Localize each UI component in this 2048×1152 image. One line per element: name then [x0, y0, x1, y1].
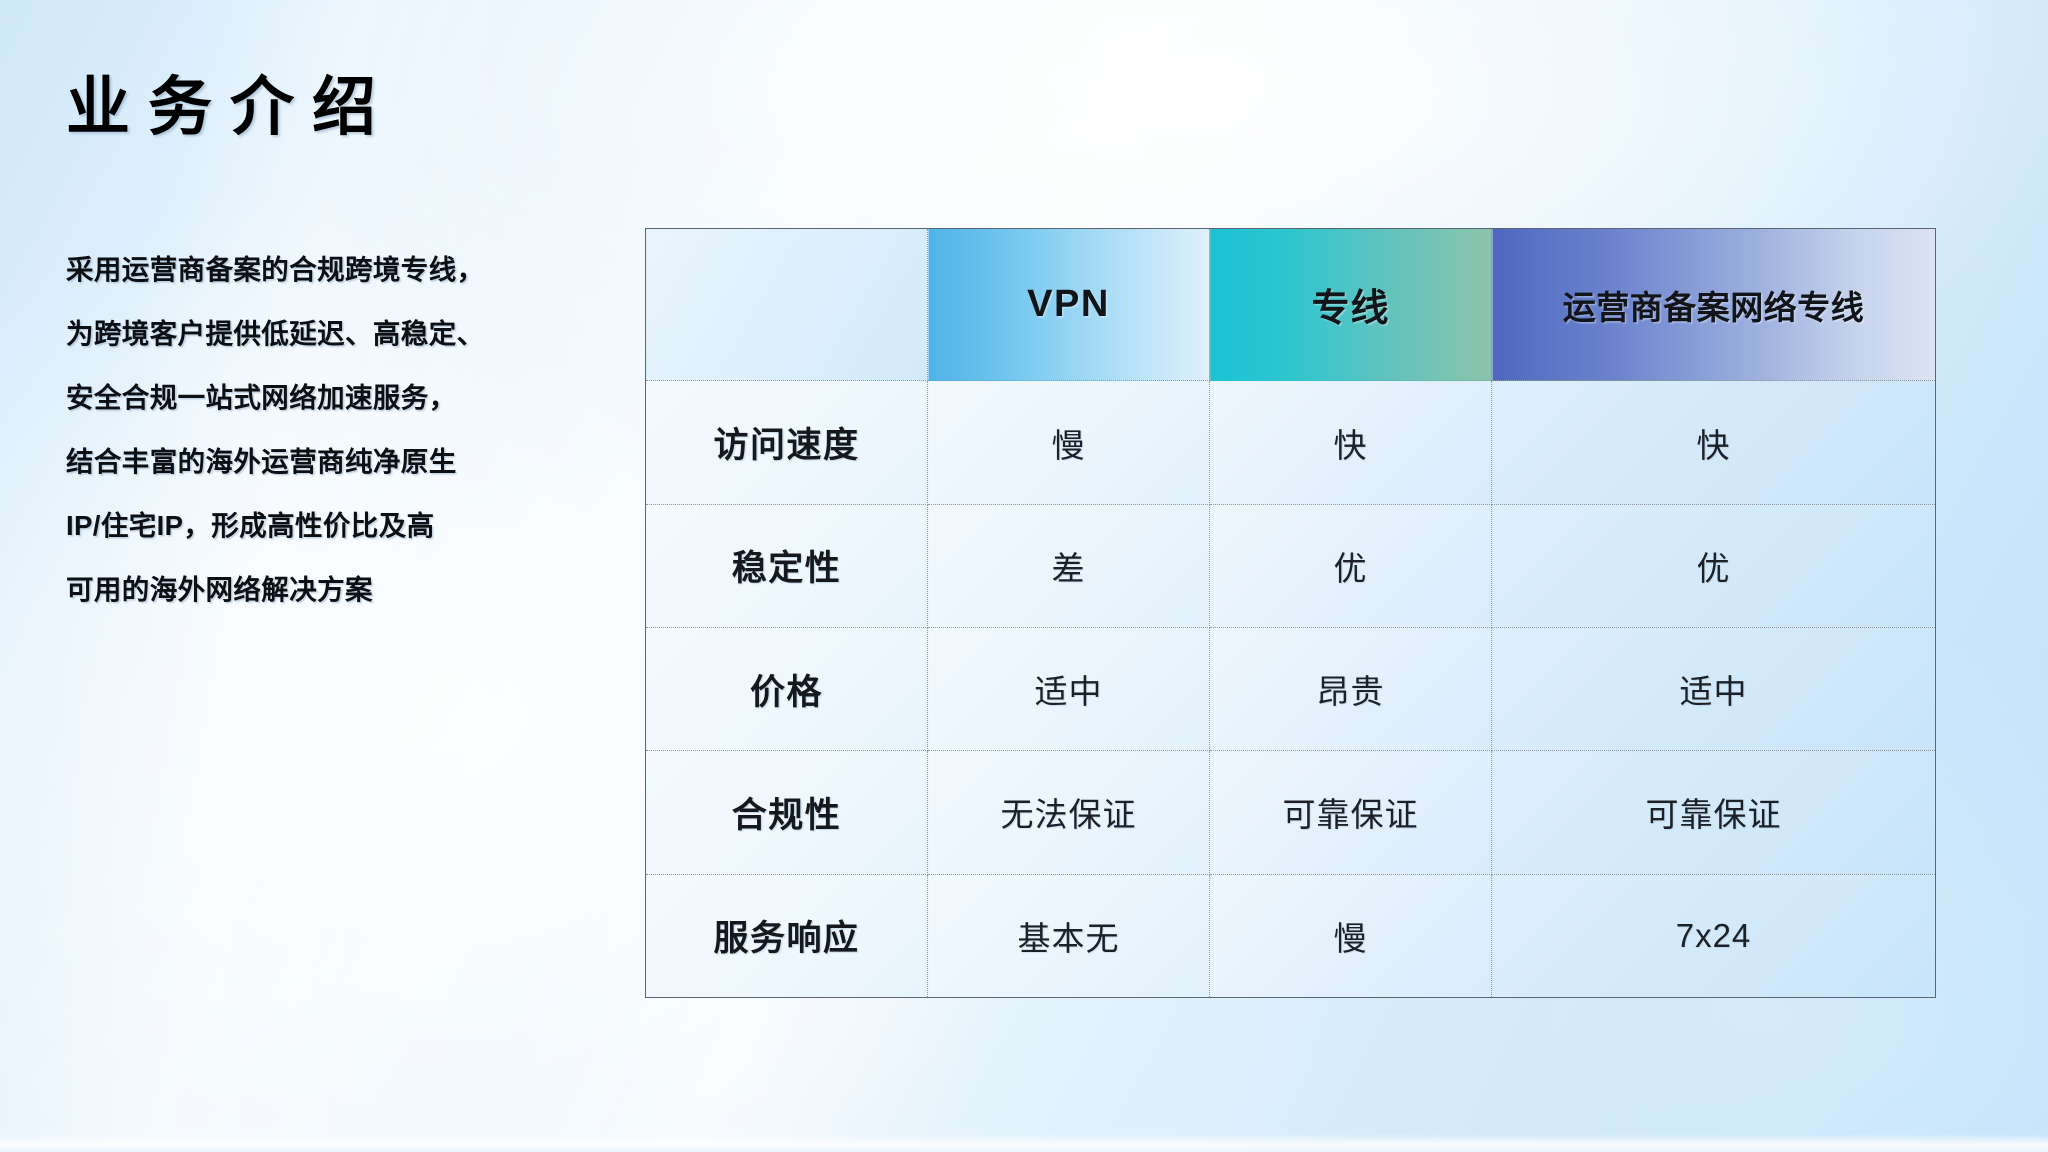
table-row: 合规性 无法保证 可靠保证 可靠保证 — [646, 751, 1936, 874]
lead-paragraph: 采用运营商备案的合规跨境专线， 为跨境客户提供低延迟、高稳定、 安全合规一站式网… — [66, 238, 626, 622]
cell-filed-line: 适中 — [1492, 628, 1936, 751]
cell-filed-line: 7x24 — [1492, 874, 1936, 997]
row-metric-label: 访问速度 — [713, 426, 859, 465]
row-metric-cell: 访问速度 — [646, 381, 928, 504]
cell-value: 慢 — [1334, 920, 1368, 957]
slide-canvas: 业务介绍 采用运营商备案的合规跨境专线， 为跨境客户提供低延迟、高稳定、 安全合… — [0, 0, 2048, 1152]
lead-line: 为跨境客户提供低延迟、高稳定、 — [66, 302, 626, 366]
cell-filed-line: 快 — [1492, 381, 1936, 504]
row-metric-label: 稳定性 — [732, 549, 842, 588]
cell-value: 适中 — [1680, 673, 1748, 710]
cell-vpn: 基本无 — [928, 874, 1210, 997]
cell-vpn: 差 — [928, 504, 1210, 627]
header-label-dedicated-line: 专线 — [1311, 288, 1389, 330]
cell-vpn: 无法保证 — [928, 751, 1210, 874]
header-label-filed-line: 运营商备案网络专线 — [1563, 289, 1865, 326]
cell-filed-line: 可靠保证 — [1492, 751, 1936, 874]
cell-value: 优 — [1334, 550, 1368, 587]
row-metric-label: 合规性 — [732, 796, 842, 835]
header-cell-dedicated-line: 专线 — [1210, 229, 1492, 381]
cell-value: 昂贵 — [1317, 673, 1385, 710]
header-cell-vpn: VPN — [928, 229, 1210, 381]
cell-dedicated-line: 可靠保证 — [1210, 751, 1492, 874]
cell-value: 优 — [1697, 550, 1731, 587]
page-title: 业务介绍 — [66, 56, 394, 148]
cell-vpn: 慢 — [928, 381, 1210, 504]
cell-vpn: 适中 — [928, 628, 1210, 751]
cell-value: 快 — [1334, 427, 1368, 464]
lead-line: 可用的海外网络解决方案 — [66, 558, 626, 622]
lead-line: IP/住宅IP，形成高性价比及高 — [66, 494, 626, 558]
cell-dedicated-line: 优 — [1210, 504, 1492, 627]
row-metric-cell: 服务响应 — [646, 874, 928, 997]
row-metric-cell: 合规性 — [646, 751, 928, 874]
cell-value: 可靠保证 — [1646, 796, 1782, 833]
cell-value: 慢 — [1052, 427, 1086, 464]
table-row: 服务响应 基本无 慢 7x24 — [646, 874, 1936, 997]
lead-line: 安全合规一站式网络加速服务， — [66, 366, 626, 430]
cell-value: 差 — [1052, 550, 1086, 587]
row-metric-cell: 价格 — [646, 628, 928, 751]
lead-line: 采用运营商备案的合规跨境专线， — [66, 238, 626, 302]
row-metric-label: 服务响应 — [713, 919, 859, 958]
cell-filed-line: 优 — [1492, 504, 1936, 627]
comparison-table: VPN 专线 运营商备案网络专线 访问速度 慢 快 — [645, 228, 1936, 998]
cell-value: 快 — [1697, 427, 1731, 464]
cell-dedicated-line: 昂贵 — [1210, 628, 1492, 751]
cell-dedicated-line: 慢 — [1210, 874, 1492, 997]
table-row: 稳定性 差 优 优 — [646, 504, 1936, 627]
cell-value: 可靠保证 — [1283, 796, 1419, 833]
table-row: 访问速度 慢 快 快 — [646, 381, 1936, 504]
cell-dedicated-line: 快 — [1210, 381, 1492, 504]
table-header-row: VPN 专线 运营商备案网络专线 — [646, 229, 1936, 381]
cell-value: 适中 — [1035, 673, 1103, 710]
row-metric-cell: 稳定性 — [646, 504, 928, 627]
table-row: 价格 适中 昂贵 适中 — [646, 628, 1936, 751]
cell-value: 基本无 — [1018, 920, 1120, 957]
row-metric-label: 价格 — [750, 673, 823, 712]
header-label-vpn: VPN — [1027, 283, 1110, 325]
lead-line: 结合丰富的海外运营商纯净原生 — [66, 430, 626, 494]
cell-value: 7x24 — [1676, 917, 1752, 954]
cell-value: 无法保证 — [1001, 796, 1137, 833]
header-cell-blank — [646, 229, 928, 381]
header-cell-filed-line: 运营商备案网络专线 — [1492, 229, 1936, 381]
